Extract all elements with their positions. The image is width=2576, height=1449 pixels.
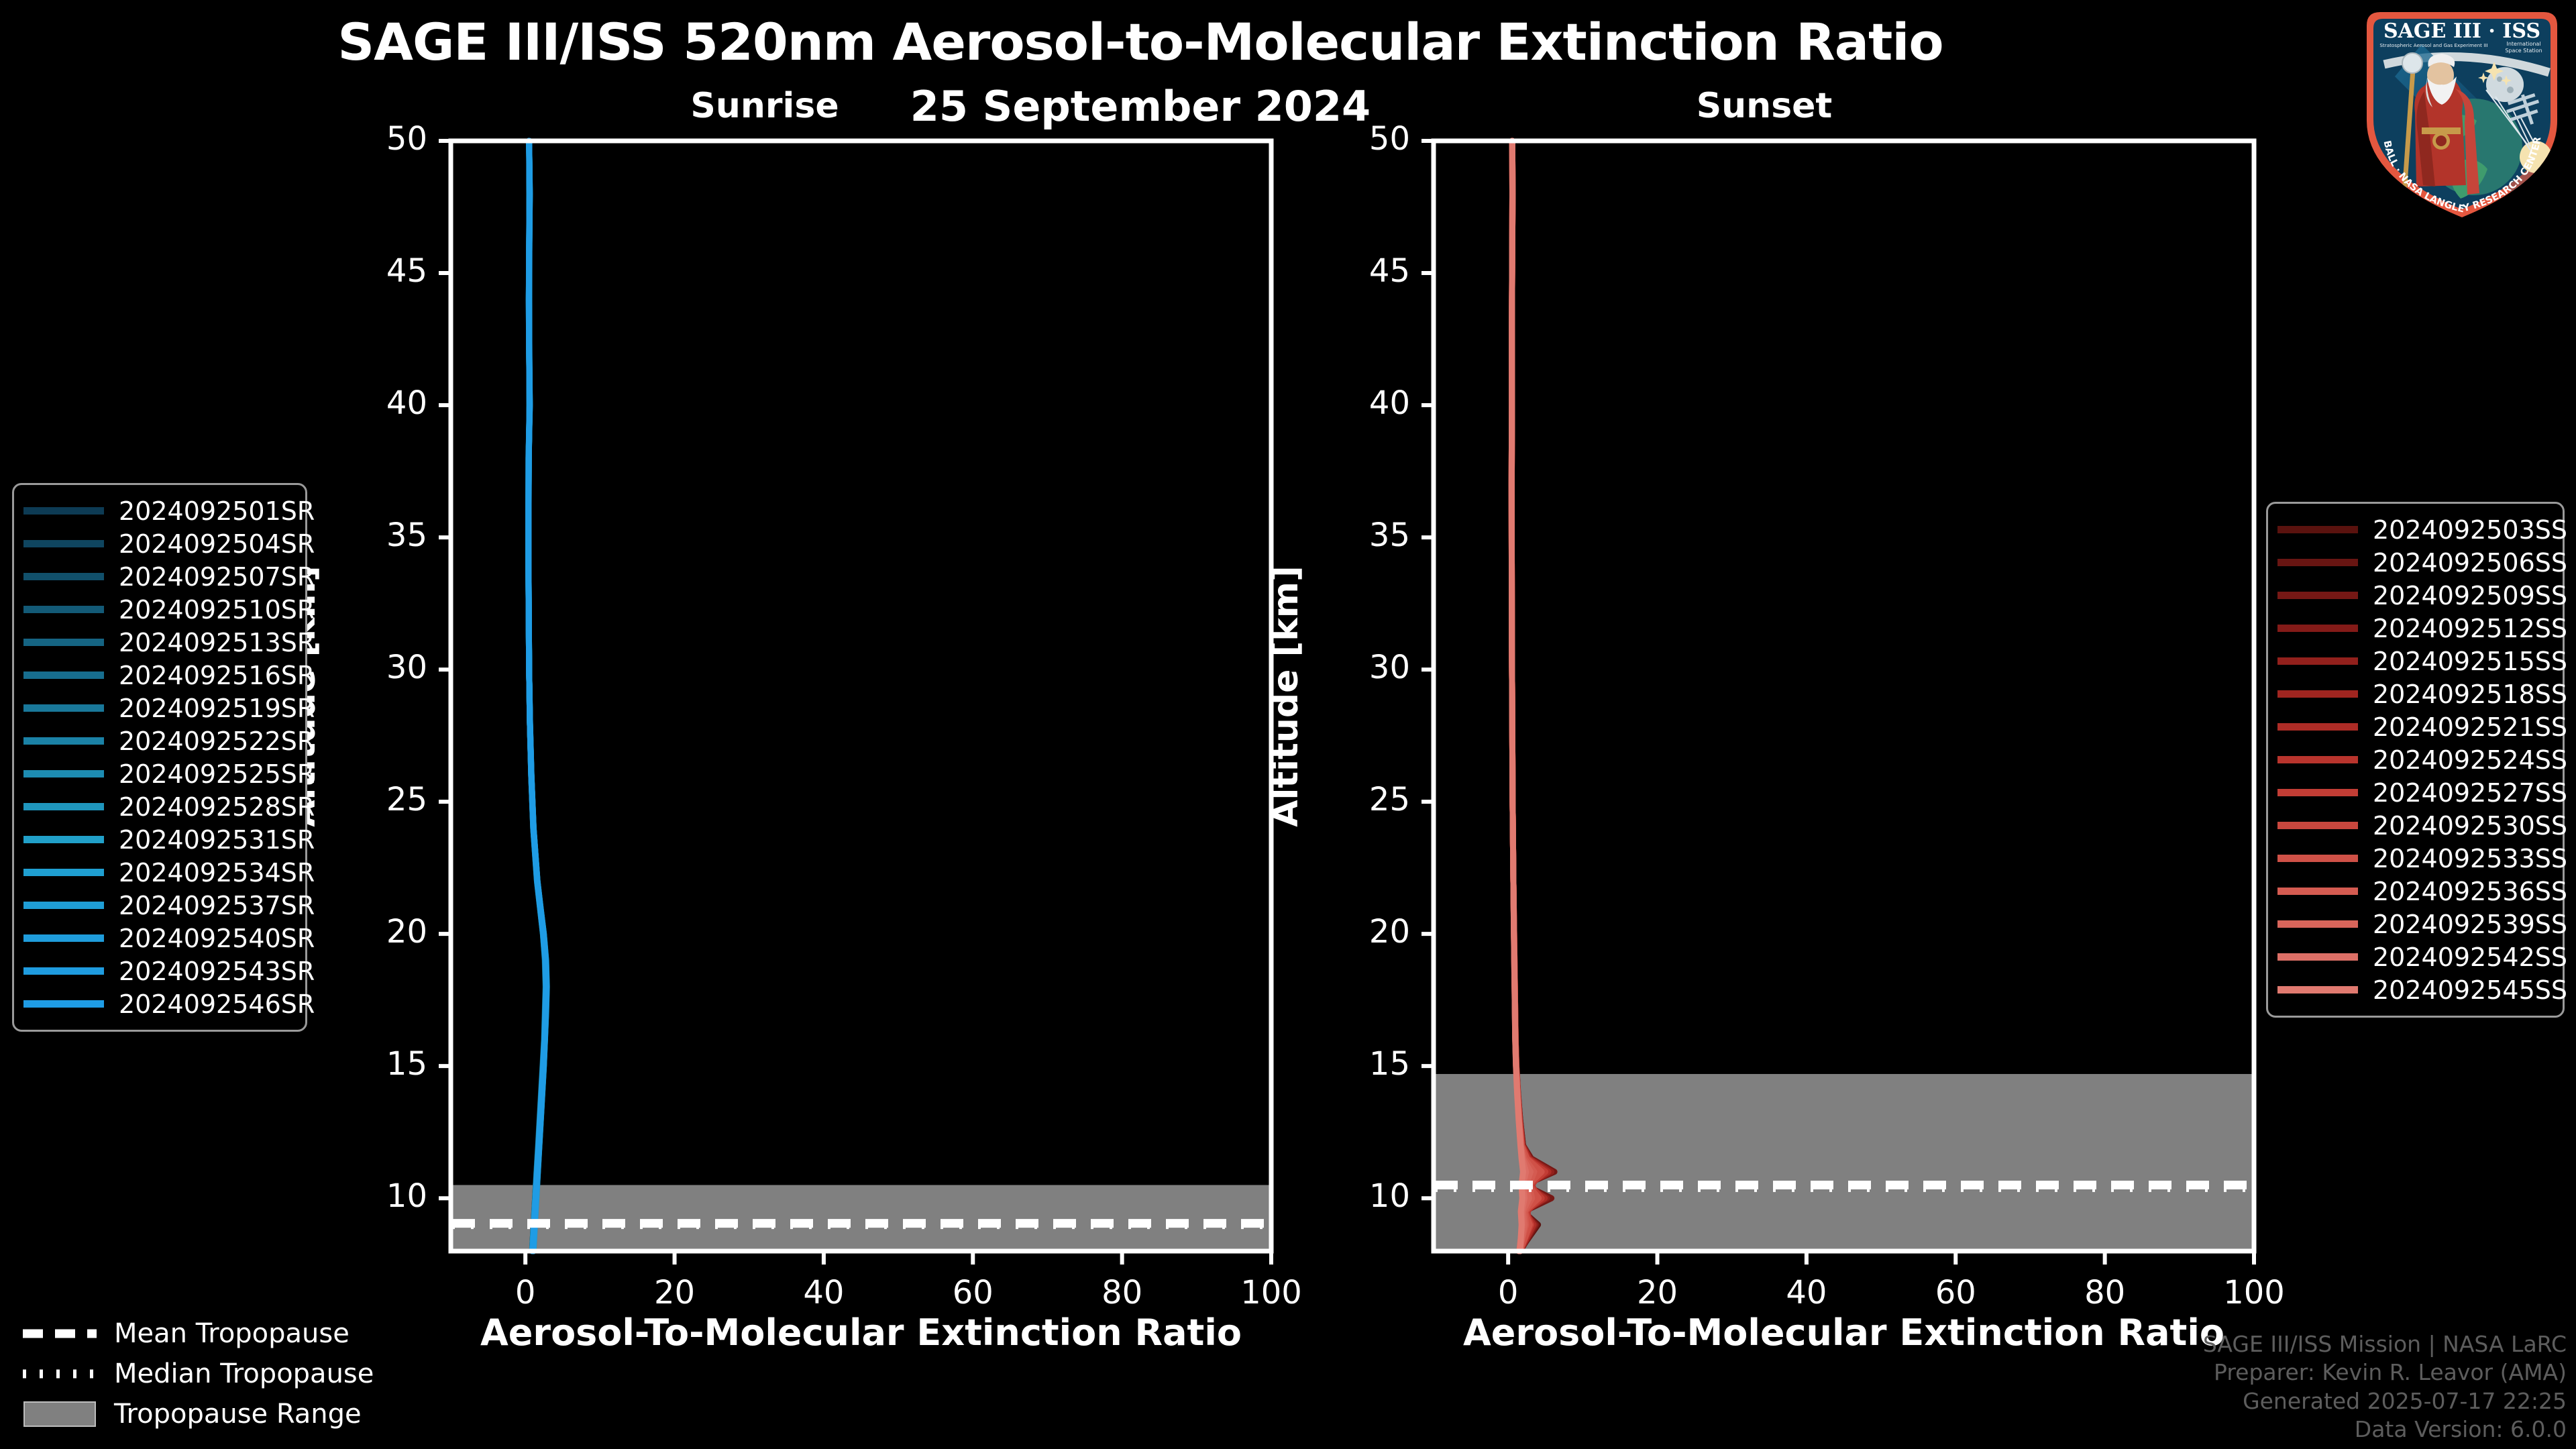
legend-item-label: 2024092540SR [119, 924, 315, 953]
legend-item-label: 2024092546SR [119, 989, 315, 1019]
legend-color-swatch [23, 967, 104, 975]
legend-item[interactable]: 2024092522SR [23, 724, 293, 757]
legend-color-swatch [2277, 625, 2358, 632]
legend-item[interactable]: 2024092539SS [2277, 908, 2551, 941]
legend-item-label: 2024092530SS [2373, 811, 2567, 841]
legend-color-swatch [23, 573, 104, 580]
legend-item-label: 2024092501SR [119, 496, 315, 526]
y-tick-label: 35 [323, 517, 427, 554]
legend-item-label: 2024092543SR [119, 957, 315, 986]
legend-color-swatch [2277, 822, 2358, 829]
legend-color-swatch [23, 1000, 104, 1008]
legend-color-swatch [2277, 920, 2358, 928]
legend-item[interactable]: 2024092536SS [2277, 875, 2551, 908]
legend-item[interactable]: 2024092525SR [23, 757, 293, 790]
y-tick-label: 40 [1306, 384, 1410, 422]
legend-item[interactable]: 2024092528SR [23, 790, 293, 823]
tropopause-range-band [1435, 1074, 2253, 1251]
legend-item[interactable]: 2024092530SS [2277, 809, 2551, 842]
legend-tropopause[interactable]: Mean TropopauseMedian TropopauseTropopau… [20, 1313, 369, 1434]
y-tick-label: 45 [323, 252, 427, 290]
legend-item-label: 2024092515SS [2373, 647, 2567, 676]
y-tick-label: 50 [323, 120, 427, 158]
legend-item-label: 2024092528SR [119, 792, 315, 822]
x-tick-label: 0 [1448, 1274, 1568, 1311]
legend-item-label: 2024092519SR [119, 694, 315, 723]
x-axis-label-sunset: Aerosol-To-Molecular Extinction Ratio [1434, 1311, 2254, 1354]
legend-color-swatch [23, 902, 104, 909]
legend-item-label: 2024092518SS [2373, 680, 2567, 709]
legend-color-swatch [23, 770, 104, 777]
legend-item-label: 2024092531SR [119, 825, 315, 855]
tropopause-legend-label: Mean Tropopause [114, 1318, 350, 1349]
y-tick-label: 10 [323, 1177, 427, 1215]
legend-color-swatch [2277, 559, 2358, 566]
legend-item[interactable]: 2024092512SS [2277, 612, 2551, 645]
y-tick-label: 20 [323, 913, 427, 951]
x-tick-label: 80 [1062, 1274, 1183, 1311]
legend-item-label: 2024092533SS [2373, 844, 2567, 873]
legend-color-swatch [2277, 657, 2358, 665]
footer-line-preparer: Preparer: Kevin R. Leavor (AMA) [2203, 1358, 2567, 1387]
legend-color-swatch [2277, 756, 2358, 763]
footer-line-mission: SAGE III/ISS Mission | NASA LaRC [2203, 1330, 2567, 1358]
x-axis-label-sunrise: Aerosol-To-Molecular Extinction Ratio [451, 1311, 1271, 1354]
y-tick-label: 25 [1306, 781, 1410, 818]
x-tick-label: 40 [763, 1274, 884, 1311]
legend-item[interactable]: 2024092546SR [23, 987, 293, 1020]
legend-item[interactable]: 2024092524SS [2277, 743, 2551, 776]
legend-sunset-events[interactable]: 2024092503SS2024092506SS2024092509SS2024… [2266, 502, 2565, 1018]
legend-item-label: 2024092510SR [119, 595, 315, 625]
legend-item[interactable]: 2024092543SR [23, 955, 293, 987]
y-tick-label: 40 [323, 384, 427, 422]
tropopause-legend-item[interactable]: Mean Tropopause [20, 1313, 369, 1354]
legend-item-label: 2024092536SS [2373, 877, 2567, 906]
y-tick-label: 35 [1306, 517, 1410, 554]
y-tick-label: 20 [1306, 913, 1410, 951]
legend-item-label: 2024092524SS [2373, 745, 2567, 775]
x-tick-label: 40 [1746, 1274, 1867, 1311]
legend-item[interactable]: 2024092533SS [2277, 842, 2551, 875]
plot-sunset [1421, 141, 2254, 1265]
legend-item-label: 2024092509SS [2373, 581, 2567, 610]
legend-item[interactable]: 2024092506SS [2277, 546, 2551, 579]
legend-color-swatch [23, 934, 104, 942]
median-tropopause-swatch [20, 1366, 99, 1381]
legend-item[interactable]: 2024092527SS [2277, 776, 2551, 809]
y-tick-label: 10 [1306, 1177, 1410, 1215]
legend-color-swatch [23, 869, 104, 876]
plot-sunrise [439, 141, 1271, 1265]
legend-color-swatch [23, 737, 104, 745]
legend-item[interactable]: 2024092521SS [2277, 710, 2551, 743]
legend-item-label: 2024092513SR [119, 628, 315, 657]
legend-color-swatch [2277, 690, 2358, 698]
footer-credits: SAGE III/ISS Mission | NASA LaRC Prepare… [2203, 1330, 2567, 1444]
legend-color-swatch [23, 507, 104, 515]
x-tick-label: 60 [1895, 1274, 2016, 1311]
legend-item[interactable]: 2024092515SS [2277, 645, 2551, 678]
tropopause-legend-item[interactable]: Median Tropopause [20, 1354, 369, 1394]
x-tick-label: 20 [1597, 1274, 1718, 1311]
tropopause-legend-item[interactable]: Tropopause Range [20, 1394, 369, 1434]
legend-color-swatch [23, 639, 104, 646]
tropopause-legend-label: Tropopause Range [114, 1399, 362, 1430]
footer-line-version: Data Version: 6.0.0 [2203, 1415, 2567, 1444]
legend-item-label: 2024092539SS [2373, 910, 2567, 939]
legend-item-label: 2024092542SS [2373, 943, 2567, 972]
legend-item[interactable]: 2024092537SR [23, 889, 293, 922]
y-tick-label: 25 [323, 781, 427, 818]
legend-color-swatch [2277, 986, 2358, 994]
legend-item[interactable]: 2024092501SR [23, 494, 293, 527]
legend-color-swatch [2277, 855, 2358, 862]
legend-color-swatch [23, 540, 104, 547]
legend-item-label: 2024092507SR [119, 562, 315, 592]
legend-item-label: 2024092521SS [2373, 712, 2567, 742]
legend-item[interactable]: 2024092509SS [2277, 579, 2551, 612]
x-tick-label: 20 [614, 1274, 735, 1311]
legend-item-label: 2024092525SR [119, 759, 315, 789]
legend-color-swatch [23, 704, 104, 712]
legend-color-swatch [2277, 723, 2358, 731]
legend-item[interactable]: 2024092510SR [23, 593, 293, 626]
legend-color-swatch [2277, 526, 2358, 533]
legend-color-swatch [2277, 888, 2358, 895]
y-tick-label: 15 [1306, 1045, 1410, 1083]
tropopause-legend-label: Median Tropopause [114, 1358, 374, 1389]
legend-color-swatch [23, 606, 104, 613]
legend-item[interactable]: 2024092519SR [23, 692, 293, 724]
legend-item-label: 2024092527SS [2373, 778, 2567, 808]
legend-item[interactable]: 2024092513SR [23, 626, 293, 659]
legend-item-label: 2024092534SR [119, 858, 315, 888]
y-tick-label: 15 [323, 1045, 427, 1083]
legend-item[interactable]: 2024092518SS [2277, 678, 2551, 710]
plot-background [451, 141, 1271, 1251]
y-axis-label-sunset: Altitude [km] [1266, 394, 1306, 998]
legend-item[interactable]: 2024092531SR [23, 823, 293, 856]
legend-item[interactable]: 2024092507SR [23, 560, 293, 593]
y-tick-label: 45 [1306, 252, 1410, 290]
tropopause-range-swatch [20, 1401, 99, 1427]
legend-sunrise-events[interactable]: 2024092501SR2024092504SR2024092507SR2024… [12, 483, 307, 1032]
legend-color-swatch [2277, 789, 2358, 796]
legend-color-swatch [23, 672, 104, 679]
footer-line-generated: Generated 2025-07-17 22:25 [2203, 1387, 2567, 1415]
legend-color-swatch [2277, 592, 2358, 599]
legend-item-label: 2024092506SS [2373, 548, 2567, 578]
x-tick-label: 80 [2045, 1274, 2165, 1311]
x-tick-label: 60 [912, 1274, 1033, 1311]
x-tick-label: 0 [465, 1274, 586, 1311]
y-tick-label: 30 [323, 649, 427, 686]
legend-item[interactable]: 2024092542SS [2277, 941, 2551, 973]
legend-item[interactable]: 2024092516SR [23, 659, 293, 692]
legend-item[interactable]: 2024092504SR [23, 527, 293, 560]
legend-item-label: 2024092504SR [119, 529, 315, 559]
legend-color-swatch [2277, 953, 2358, 961]
legend-color-swatch [23, 836, 104, 843]
legend-item-label: 2024092537SR [119, 891, 315, 920]
legend-item-label: 2024092516SR [119, 661, 315, 690]
legend-item[interactable]: 2024092545SS [2277, 973, 2551, 1006]
legend-item-label: 2024092522SR [119, 727, 315, 756]
y-tick-label: 30 [1306, 649, 1410, 686]
x-tick-label: 100 [1211, 1274, 1332, 1311]
legend-item[interactable]: 2024092534SR [23, 856, 293, 889]
mean-tropopause-swatch [20, 1326, 99, 1341]
legend-item[interactable]: 2024092540SR [23, 922, 293, 955]
legend-item-label: 2024092503SS [2373, 515, 2567, 545]
legend-item-label: 2024092512SS [2373, 614, 2567, 643]
legend-item-label: 2024092545SS [2373, 975, 2567, 1005]
legend-color-swatch [23, 803, 104, 810]
y-tick-label: 50 [1306, 120, 1410, 158]
x-tick-label: 100 [2194, 1274, 2314, 1311]
legend-item[interactable]: 2024092503SS [2277, 513, 2551, 546]
tropopause-range-band [452, 1185, 1270, 1251]
